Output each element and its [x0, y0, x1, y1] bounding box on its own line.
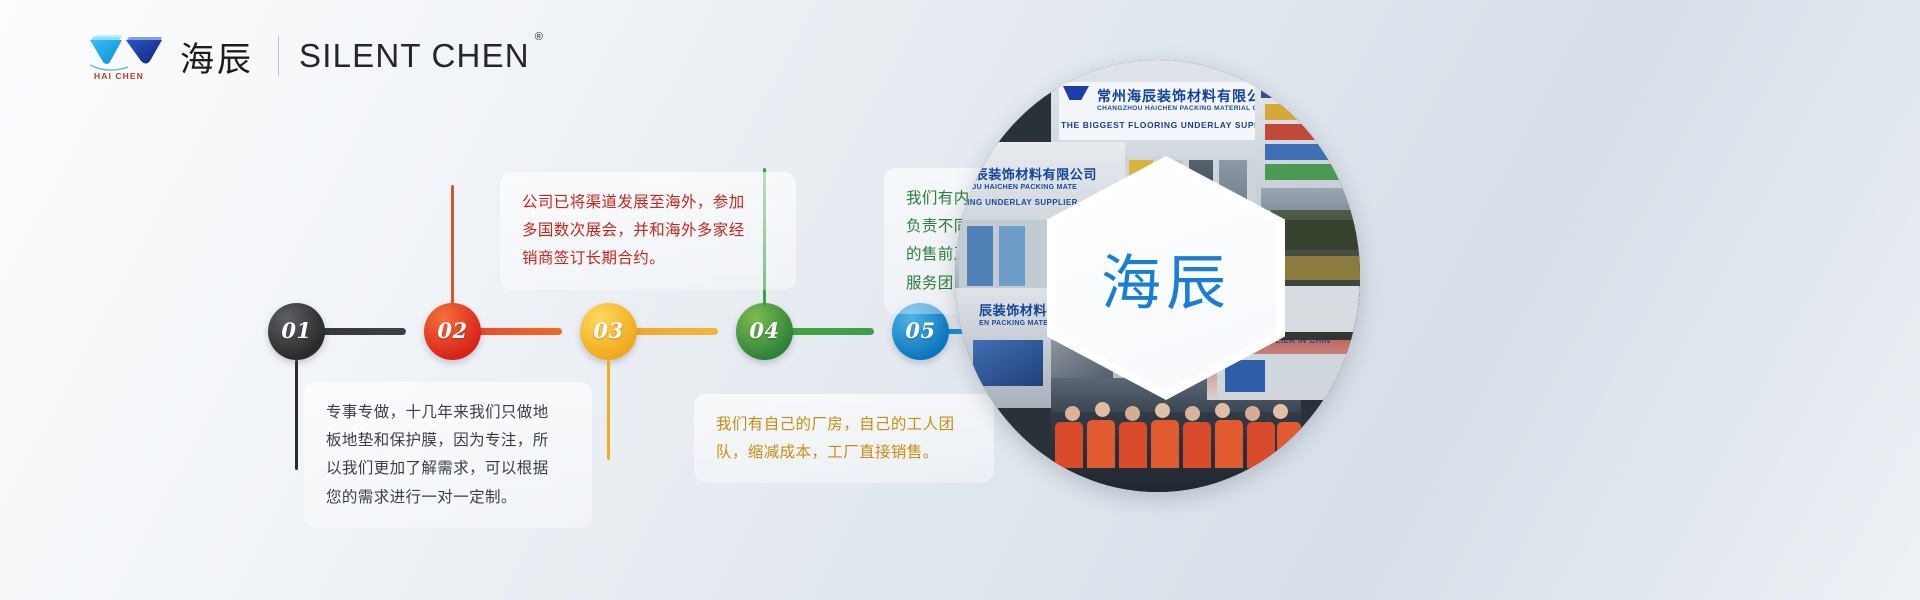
timeline-node-01-number: 01: [281, 318, 311, 343]
photo-collage-wheel: 常州海辰装饰材料有限公司 CHANGZHOU HAICHEN PACKING M…: [955, 60, 1360, 492]
callout-03-line-2: 队，缩减成本，工厂直接销售。: [716, 438, 974, 466]
timeline-node-05-number: 05: [905, 318, 935, 343]
booth-sign-tagline-top: THE BIGGEST FLOORING UNDERLAY SUPPLIER I…: [1061, 120, 1281, 130]
callout-03: 我们有自己的厂房，自己的工人团 队，缩减成本，工厂直接销售。: [694, 394, 994, 483]
timeline-node-02[interactable]: 02: [424, 303, 481, 360]
booth-sign-cn-top: 常州海辰装饰材料有限公司: [1097, 86, 1277, 106]
callout-02: 公司已将渠道发展至海外，参加 多国数次展会，并和海外多家经 销商签订长期合约。: [500, 172, 796, 290]
center-hexagon-badge: 海辰: [1047, 156, 1285, 400]
hexagon-brand-label: 海辰: [1101, 235, 1231, 322]
callout-01-line-1: 专事专做，十几年来我们只做地: [326, 398, 572, 426]
callout-01-line-3: 以我们更加了解需求，可以根据: [326, 454, 572, 482]
callout-01-line-4: 您的需求进行一对一定制。: [326, 483, 572, 511]
callout-02-line-2: 多国数次展会，并和海外多家经: [522, 216, 776, 244]
timeline-node-04[interactable]: 04: [736, 303, 793, 360]
callout-01-line-2: 板地垫和保护膜，因为专注，所: [326, 426, 572, 454]
booth-sign-en-top: CHANGZHOU HAICHEN PACKING MATERIAL CO., …: [1097, 105, 1281, 112]
timeline-node-03-number: 03: [593, 318, 623, 343]
stem-02: [451, 185, 454, 305]
callout-03-line-1: 我们有自己的厂房，自己的工人团: [716, 410, 974, 438]
timeline-node-01[interactable]: 01: [268, 303, 325, 360]
timeline-node-02-number: 02: [437, 318, 467, 343]
stem-03: [607, 360, 610, 460]
callout-01: 专事专做，十几年来我们只做地 板地垫和保护膜，因为专注，所 以我们更加了解需求，…: [304, 382, 592, 528]
callout-02-line-1: 公司已将渠道发展至海外，参加: [522, 188, 776, 216]
timeline-node-03[interactable]: 03: [580, 303, 637, 360]
infographic-canvas: HAI CHEN 海辰 SILENT CHEN® 01 02 03 04 05: [0, 0, 1920, 600]
callout-02-line-3: 销商签订长期合约。: [522, 244, 776, 272]
stem-01: [295, 360, 298, 470]
timeline-node-04-number: 04: [749, 318, 779, 343]
